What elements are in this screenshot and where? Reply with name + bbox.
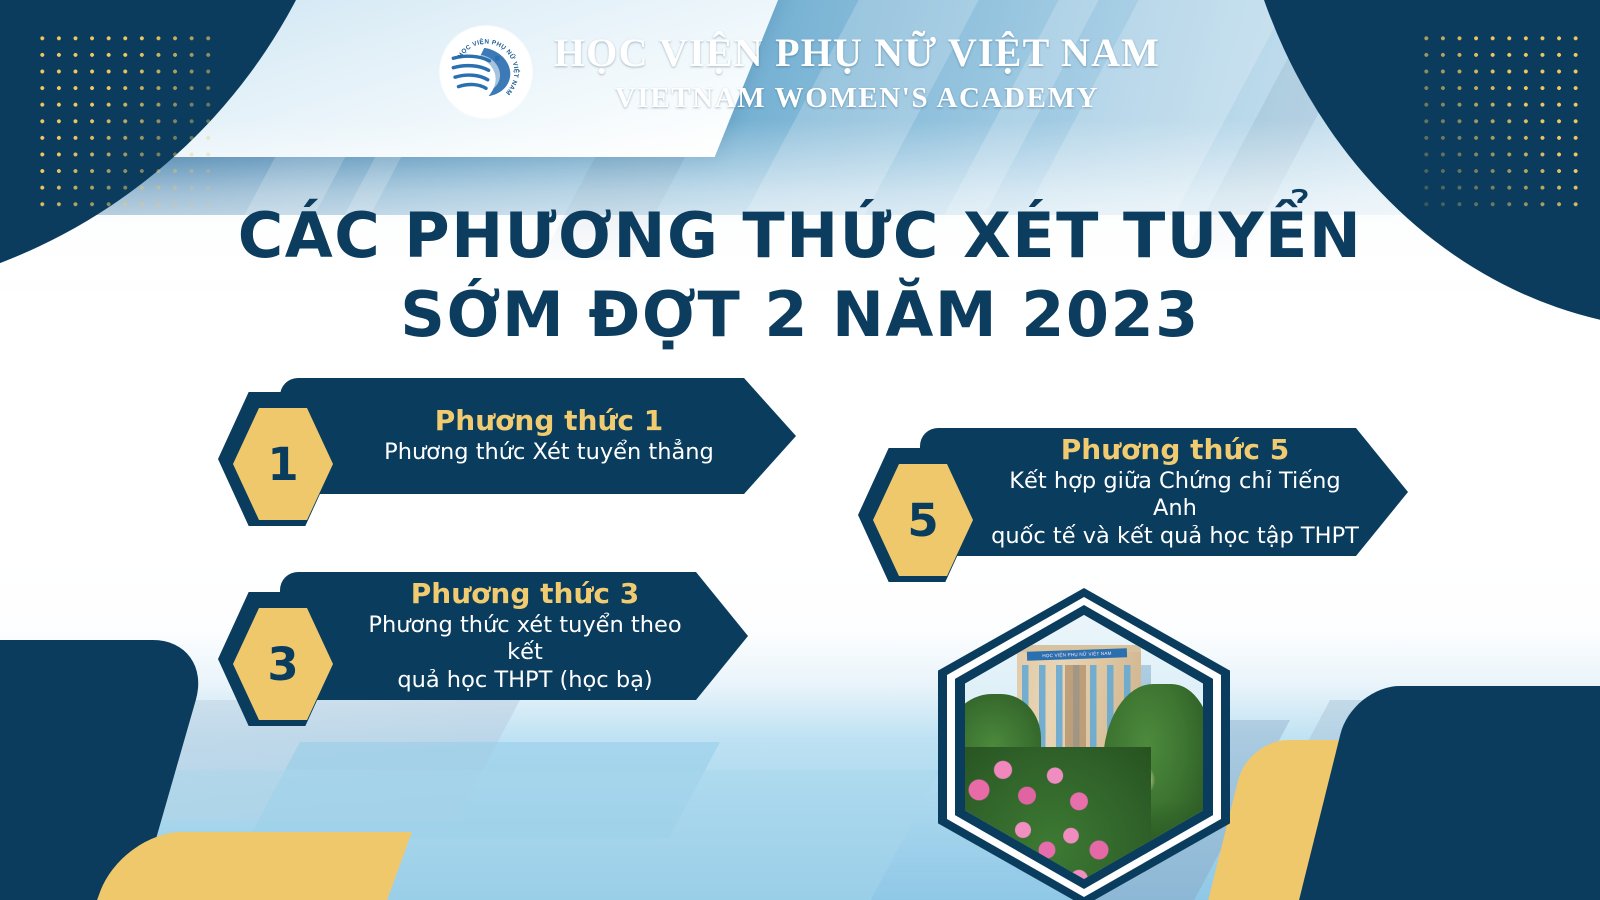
method-card-5-description-line-2: quốc tế và kết quả học tập THPT: [991, 523, 1359, 550]
campus-photo-hexagon: HỌC VIỆN PHỤ NỮ VIỆT NAM: [938, 588, 1230, 900]
method-card-3-description-line-2: quả học THPT (học bạ): [397, 667, 652, 694]
method-card-3-title: Phương thức 3: [411, 578, 639, 609]
method-card-5-number: 5: [907, 498, 938, 543]
method-card-3-description-line-1: Phương thức xét tuyển theo kết: [348, 612, 702, 667]
org-name-english: VIETNAM WOMEN'S ACADEMY: [615, 82, 1099, 115]
page-title-line-1: CÁC PHƯƠNG THỨC XÉT TUYỂN: [0, 196, 1600, 275]
dove-logo-icon: HỌC VIỆN PHỤ NỮ VIỆT NAM: [443, 29, 529, 115]
method-card-5-title: Phương thức 5: [1061, 434, 1289, 465]
method-card-3[interactable]: 3 Phương thức 3 Phương thức xét tuyển th…: [218, 572, 748, 700]
method-card-1-text: Phương thức 1 Phương thức Xét tuyển thẳn…: [348, 378, 750, 494]
method-card-1-description: Phương thức Xét tuyển thẳng: [384, 439, 714, 466]
page-title: CÁC PHƯƠNG THỨC XÉT TUYỂN SỚM ĐỢT 2 NĂM …: [0, 196, 1600, 355]
poster-root: HỌC VIỆN PHỤ NỮ VIỆT NAM HỌC VIỆN PHỤ NỮ…: [0, 0, 1600, 900]
method-card-1-title: Phương thức 1: [435, 405, 663, 436]
method-card-1[interactable]: 1 Phương thức 1 Phương thức Xét tuyển th…: [218, 378, 796, 494]
header: HỌC VIỆN PHỤ NỮ VIỆT NAM HỌC VIỆN PHỤ NỮ…: [0, 26, 1600, 118]
method-card-5-description-line-1: Kết hợp giữa Chứng chỉ Tiếng Anh: [988, 468, 1362, 523]
method-card-3-number: 3: [267, 642, 298, 687]
method-card-1-number: 1: [267, 442, 298, 487]
academy-logo: HỌC VIỆN PHỤ NỮ VIỆT NAM: [440, 26, 532, 118]
org-name-vietnamese: HỌC VIỆN PHỤ NỮ VIỆT NAM: [554, 29, 1160, 76]
page-title-line-2: SỚM ĐỢT 2 NĂM 2023: [0, 275, 1600, 354]
method-card-3-text: Phương thức 3 Phương thức xét tuyển theo…: [348, 572, 702, 700]
method-card-5[interactable]: 5 Phương thức 5 Kết hợp giữa Chứng chỉ T…: [858, 428, 1408, 556]
method-card-5-text: Phương thức 5 Kết hợp giữa Chứng chỉ Tiế…: [988, 428, 1362, 556]
organization-names: HỌC VIỆN PHỤ NỮ VIỆT NAM VIETNAM WOMEN'S…: [554, 29, 1160, 115]
